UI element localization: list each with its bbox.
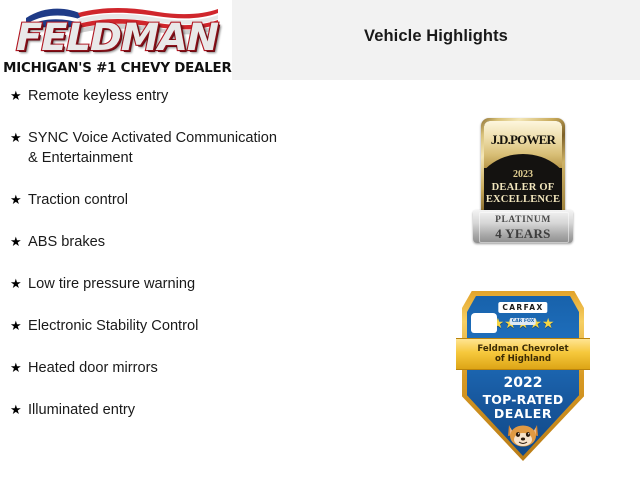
carfax-top-rated-dealer-badge: CARFAX ★★★★★ Feldman Chevrolet of Highla… — [462, 291, 584, 461]
jd-power-plaque-face: J.D.POWER 2023 DEALER OF EXCELLENCE — [484, 121, 562, 212]
feature-label: Illuminated entry — [28, 400, 135, 420]
feature-label: Low tire pressure warning — [28, 274, 195, 294]
list-item: ★ Electronic Stability Control — [0, 316, 420, 336]
feature-label: SYNC Voice Activated Communication & Ent… — [28, 128, 277, 168]
dealer-tagline: MICHIGAN'S #1 CHEVY DEALER — [3, 60, 231, 76]
list-item: ★ ABS brakes — [0, 232, 420, 252]
star-bullet-icon: ★ — [10, 358, 28, 378]
car-fox-mascot-icon — [501, 419, 545, 461]
carfax-dealer-name-line1: Feldman Chevrolet — [477, 344, 568, 354]
star-bullet-icon: ★ — [10, 190, 28, 210]
carfax-logo: CARFAX — [498, 302, 547, 313]
carfax-award-line1: TOP-RATED — [462, 392, 584, 407]
carfax-dealer-name-line2: of Highland — [495, 354, 551, 364]
jd-power-award-badge: J.D.POWER 2023 DEALER OF EXCELLENCE PLAT… — [473, 118, 573, 243]
jd-power-plaque: J.D.POWER 2023 DEALER OF EXCELLENCE — [481, 118, 565, 215]
list-item: ★ Heated door mirrors — [0, 358, 420, 378]
jd-power-year: 2023 — [484, 169, 562, 180]
feature-label: Electronic Stability Control — [28, 316, 198, 336]
page-header: FELDMAN MICHIGAN'S #1 CHEVY DEALER Vehic… — [0, 0, 640, 80]
feature-label: Heated door mirrors — [28, 358, 158, 378]
star-bullet-icon: ★ — [10, 274, 28, 294]
carfax-dealer-ribbon: Feldman Chevrolet of Highland — [456, 338, 590, 370]
jd-power-award-line1: DEALER OF — [484, 182, 562, 193]
page-title: Vehicle Highlights — [232, 0, 640, 80]
list-item: ★ Traction control — [0, 190, 420, 210]
dealer-tagline-bar: MICHIGAN'S #1 CHEVY DEALER — [10, 58, 224, 78]
jd-power-award-line2: EXCELLENCE — [484, 194, 562, 205]
star-bullet-icon: ★ — [10, 316, 28, 336]
list-item: ★ Illuminated entry — [0, 400, 420, 420]
feldman-wordmark-text: FELDMAN — [4, 18, 231, 58]
jd-power-duration: 4 YEARS — [473, 226, 573, 242]
car-fox-shirt-label: CAR FOX — [510, 318, 536, 325]
car-fox-shirt — [471, 313, 497, 333]
jd-power-tier: PLATINUM — [473, 215, 573, 225]
jd-power-platinum-base: PLATINUM 4 YEARS — [473, 210, 573, 243]
star-bullet-icon: ★ — [10, 128, 28, 148]
star-bullet-icon: ★ — [10, 400, 28, 420]
feature-label: Remote keyless entry — [28, 86, 168, 106]
list-item: ★ Remote keyless entry — [0, 86, 420, 106]
carfax-award-year: 2022 — [462, 375, 584, 391]
list-item: ★ SYNC Voice Activated Communication & E… — [0, 128, 420, 168]
feature-label: ABS brakes — [28, 232, 105, 252]
list-item: ★ Low tire pressure warning — [0, 274, 420, 294]
feature-label: Traction control — [28, 190, 128, 210]
feldman-wordmark: FELDMAN — [8, 18, 226, 58]
star-bullet-icon: ★ — [10, 232, 28, 252]
page-title-text: Vehicle Highlights — [364, 27, 508, 46]
vehicle-features-list: ★ Remote keyless entry ★ SYNC Voice Acti… — [0, 86, 420, 442]
star-bullet-icon: ★ — [10, 86, 28, 106]
jd-power-brand: J.D.POWER — [484, 132, 562, 148]
dealer-logo[interactable]: FELDMAN MICHIGAN'S #1 CHEVY DEALER — [0, 0, 232, 80]
